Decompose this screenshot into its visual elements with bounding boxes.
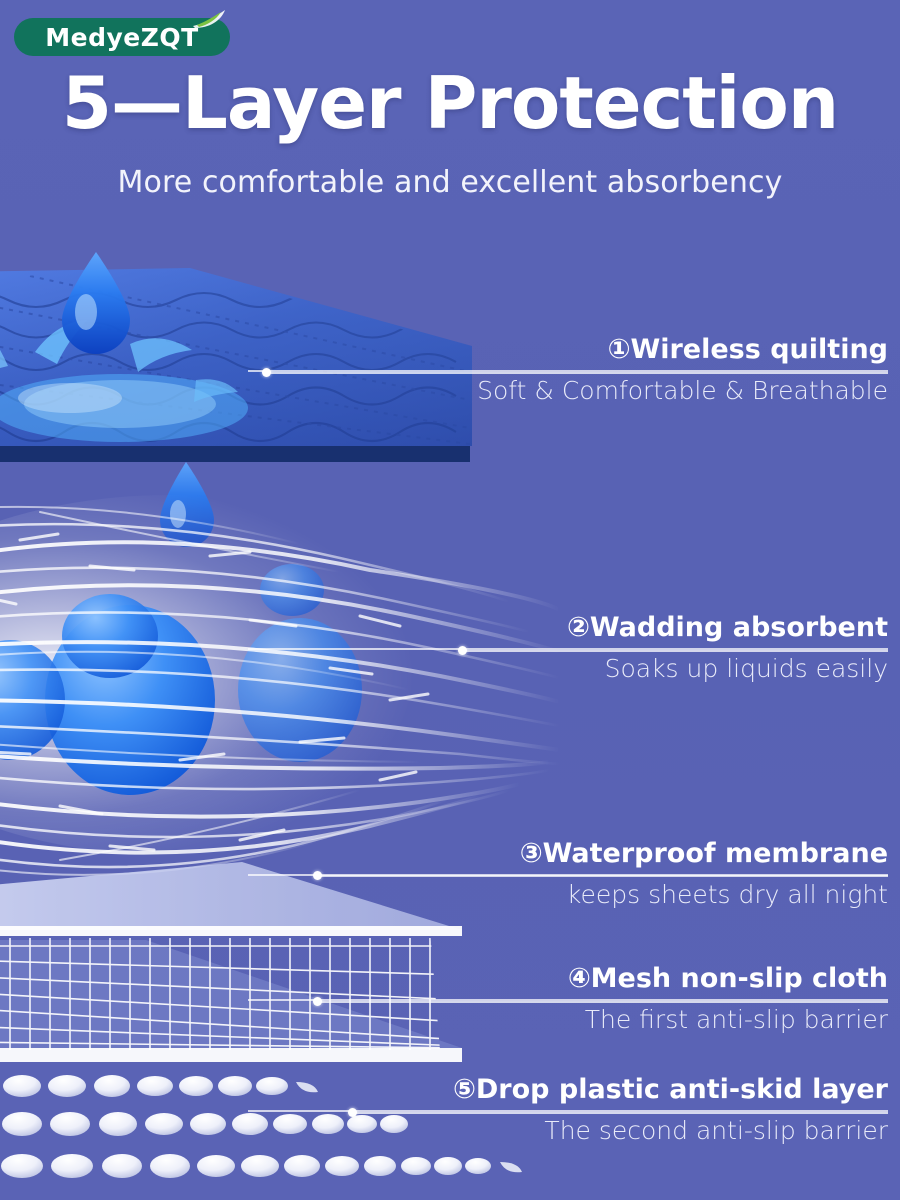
callout-rule [248, 1110, 888, 1112]
brand-logo[interactable]: MedyeZQT [14, 18, 230, 56]
callout-title: ③Waterproof membrane [248, 838, 888, 873]
callout-rule [248, 874, 888, 876]
callout-title: ②Wadding absorbent [248, 612, 888, 647]
callout-subtitle: Soaks up liquids easily [248, 654, 888, 684]
callout-layer-1: ①Wireless quilting Soft & Comfortable & … [248, 334, 888, 406]
page-title: 5—Layer Protection [0, 66, 900, 142]
callout-rule [248, 648, 888, 650]
callout-subtitle: The first anti-slip barrier [248, 1005, 888, 1035]
callout-title: ⑤Drop plastic anti-skid layer [248, 1074, 888, 1109]
water-droplet-top [62, 252, 130, 354]
callout-subtitle: The second anti-slip barrier [248, 1116, 888, 1146]
callout-layer-3: ③Waterproof membrane keeps sheets dry al… [248, 838, 888, 910]
callout-layer-2: ②Wadding absorbent Soaks up liquids easi… [248, 612, 888, 684]
infographic-root: MedyeZQT 5—Layer Protection More comfort… [0, 0, 900, 1200]
dot-row [1, 1154, 522, 1178]
callout-title: ①Wireless quilting [248, 334, 888, 369]
wadding-fiber-layer [0, 495, 560, 875]
callout-title: ④Mesh non-slip cloth [248, 963, 888, 998]
callout-rule [248, 999, 888, 1001]
callout-layer-5: ⑤Drop plastic anti-skid layer The second… [248, 1074, 888, 1146]
callout-subtitle: keeps sheets dry all night [248, 880, 888, 910]
callout-layer-4: ④Mesh non-slip cloth The first anti-slip… [248, 963, 888, 1035]
callout-rule [248, 370, 888, 372]
water-droplet-falling [160, 462, 214, 547]
page-subtitle: More comfortable and excellent absorbenc… [0, 165, 900, 200]
brand-logo-text: MedyeZQT [45, 23, 198, 52]
callout-subtitle: Soft & Comfortable & Breathable [248, 376, 888, 406]
